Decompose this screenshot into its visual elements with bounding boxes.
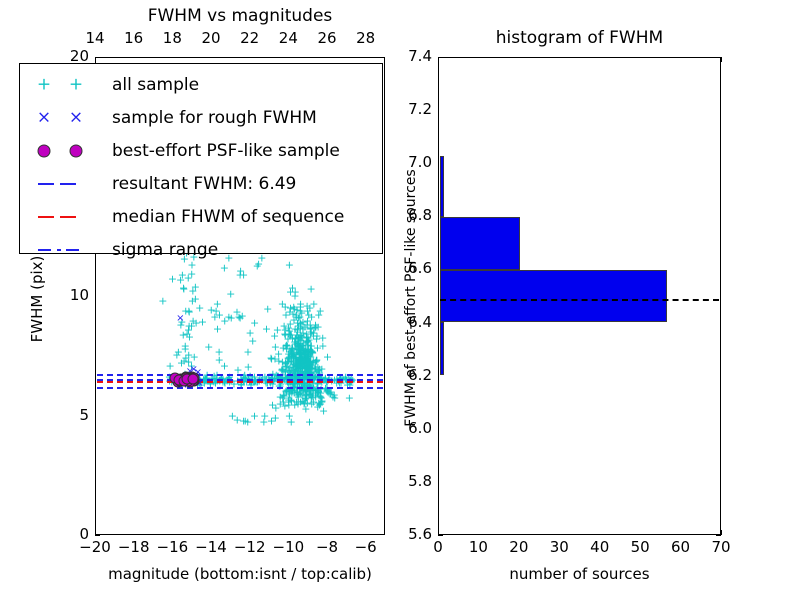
left-x-axis-label: magnitude (bottom:isnt / top:calib) [95, 565, 385, 583]
data-point-plus: + [236, 266, 245, 277]
data-point-plus: + [198, 316, 207, 327]
x-tick-label: −10 [271, 538, 305, 556]
data-point-plus: + [271, 412, 280, 423]
legend-item-1: ××sample for rough FWHM [26, 101, 382, 134]
data-point-plus: + [301, 404, 310, 415]
data-point-plus: + [226, 289, 235, 300]
legend-circle-icon [38, 144, 51, 157]
legend-dash-dot-line-icon [66, 249, 79, 251]
data-point-plus: + [188, 296, 197, 307]
histogram-bar [440, 322, 444, 375]
data-point-plus: + [181, 340, 190, 351]
data-point-plus: + [313, 322, 322, 333]
hist-y-tick-label: 7.4 [390, 47, 432, 65]
x-top-tick-label: 26 [310, 29, 344, 47]
hist-y-tick-label: 5.8 [390, 472, 432, 490]
x-top-tick-label: 28 [349, 29, 383, 47]
legend-box: ++all sample××sample for rough FWHMbest-… [19, 63, 383, 254]
data-point-plus: + [305, 416, 314, 427]
legend-dashed-line-icon [38, 216, 54, 218]
histogram-bar [440, 270, 668, 323]
legend-dashed-line-icon [60, 216, 76, 218]
legend-marker-dash-dot-line-icon [26, 233, 112, 266]
legend-item-label: all sample [112, 75, 199, 95]
x-tick-label: −18 [117, 538, 151, 556]
data-point-plus: + [323, 351, 332, 362]
legend-marker-dashed-line-icon [26, 200, 112, 233]
data-point-plus: + [260, 411, 269, 422]
data-point-plus: + [267, 354, 276, 365]
data-point-plus: + [278, 298, 287, 309]
legend-item-5: sigma range [26, 233, 382, 266]
hist-x-tick-label: 50 [620, 538, 660, 556]
legend-dashed-line-icon [38, 183, 54, 185]
x-top-tick-label: 18 [155, 29, 189, 47]
data-point-plus: + [232, 306, 241, 317]
histogram-median-line [440, 299, 720, 301]
hist-x-tick-label: 30 [539, 538, 579, 556]
data-point-plus: + [300, 322, 309, 333]
data-point-plus: + [178, 269, 187, 280]
legend-item-2: best-effort PSF-like sample [26, 134, 382, 167]
legend-cross-icon: × [37, 109, 51, 126]
hist-x-tick-mark [721, 530, 722, 535]
hist-y-tick-label: 5.6 [390, 525, 432, 543]
x-tick-label: −14 [194, 538, 228, 556]
sigma-range-upper-line [97, 374, 384, 376]
data-point-plus: + [317, 393, 326, 404]
hist-y-tick-mark-right [716, 535, 721, 536]
data-point-plus: + [307, 283, 316, 294]
data-point-plus: + [215, 354, 224, 365]
hist-x-tick-label: 20 [499, 538, 539, 556]
right-y-axis-label: FWHM of best-effort PSF-like sources [403, 158, 419, 438]
figure-canvas: FWHM vs magnitudes 1416182022242628 −20−… [0, 0, 800, 600]
legend-dash-dot-line-icon [57, 249, 61, 251]
legend-marker-plus-icon: ++ [26, 68, 112, 101]
data-point-plus: + [250, 318, 259, 329]
sigma-range-lower-line [97, 387, 384, 389]
legend-item-4: median FHWM of sequence [26, 200, 382, 233]
hist-y-tick-mark [438, 535, 443, 536]
hist-y-tick-label: 7.2 [390, 100, 432, 118]
data-point-plus: + [262, 324, 271, 335]
legend-item-label: best-effort PSF-like sample [112, 141, 340, 161]
x-top-tick-label: 14 [78, 29, 112, 47]
x-top-tick-label: 22 [233, 29, 267, 47]
legend-cross-icon: × [69, 109, 83, 126]
hist-x-tick-label: 60 [661, 538, 701, 556]
data-point-plus: + [204, 341, 213, 352]
data-point-plus: + [330, 392, 339, 403]
legend-circle-icon [70, 144, 83, 157]
hist-x-tick-label: 10 [458, 538, 498, 556]
y-tick-label: 10 [49, 286, 89, 304]
data-point-plus: + [166, 360, 175, 371]
legend-item-0: ++all sample [26, 68, 382, 101]
left-panel-title: FWHM vs magnitudes [95, 6, 385, 26]
legend-item-label: resultant FWHM: 6.49 [112, 174, 296, 194]
x-top-tick-label: 16 [117, 29, 151, 47]
x-tick-label: −6 [349, 538, 383, 556]
y-tick-mark [95, 535, 100, 536]
right-panel-title: histogram of FWHM [438, 28, 721, 48]
hist-x-tick-mark-top [721, 57, 722, 62]
hist-x-tick-label: 70 [701, 538, 741, 556]
legend-marker-cross-icon: ×× [26, 101, 112, 134]
legend-marker-circle-icon [26, 134, 112, 167]
data-point-psf-dot [188, 373, 199, 384]
right-x-axis-label: number of sources [438, 565, 721, 583]
data-point-plus: + [243, 346, 252, 357]
x-top-tick-label: 20 [194, 29, 228, 47]
data-point-cross: × [176, 314, 184, 324]
median-fwhm-line [97, 381, 384, 383]
data-point-plus: + [285, 410, 294, 421]
histogram-bar [440, 156, 444, 217]
legend-item-label: median FHWM of sequence [112, 207, 344, 227]
histogram-data-area [440, 59, 720, 534]
data-point-plus: + [183, 329, 192, 340]
y-tick-label: 5 [49, 406, 89, 424]
legend-marker-dashed-line-icon [26, 167, 112, 200]
x-top-tick-label: 24 [271, 29, 305, 47]
legend-dash-dot-line-icon [38, 249, 51, 251]
data-point-plus: + [284, 322, 293, 333]
data-point-plus: + [241, 416, 250, 427]
data-point-plus: + [248, 336, 257, 347]
data-point-plus: + [244, 361, 253, 372]
x-tick-label: −12 [233, 538, 267, 556]
data-point-plus: + [288, 283, 297, 294]
legend-item-label: sample for rough FWHM [112, 108, 317, 128]
data-point-plus: + [314, 310, 323, 321]
data-point-plus: + [296, 341, 305, 352]
hist-x-tick-label: 40 [580, 538, 620, 556]
legend-plus-icon: + [69, 76, 83, 93]
x-tick-label: −16 [155, 538, 189, 556]
data-point-plus: + [210, 312, 219, 323]
legend-dashed-line-icon [60, 183, 76, 185]
histogram-bar [440, 217, 520, 270]
data-point-plus: + [158, 295, 167, 306]
data-point-plus: + [220, 316, 229, 327]
data-point-plus: + [270, 331, 279, 342]
data-point-plus: + [263, 304, 272, 315]
legend-item-label: sigma range [112, 240, 218, 260]
legend-item-3: resultant FWHM: 6.49 [26, 167, 382, 200]
y-tick-label: 0 [49, 525, 89, 543]
data-point-plus: + [345, 392, 354, 403]
legend-plus-icon: + [37, 76, 51, 93]
x-tick-label: −8 [310, 538, 344, 556]
